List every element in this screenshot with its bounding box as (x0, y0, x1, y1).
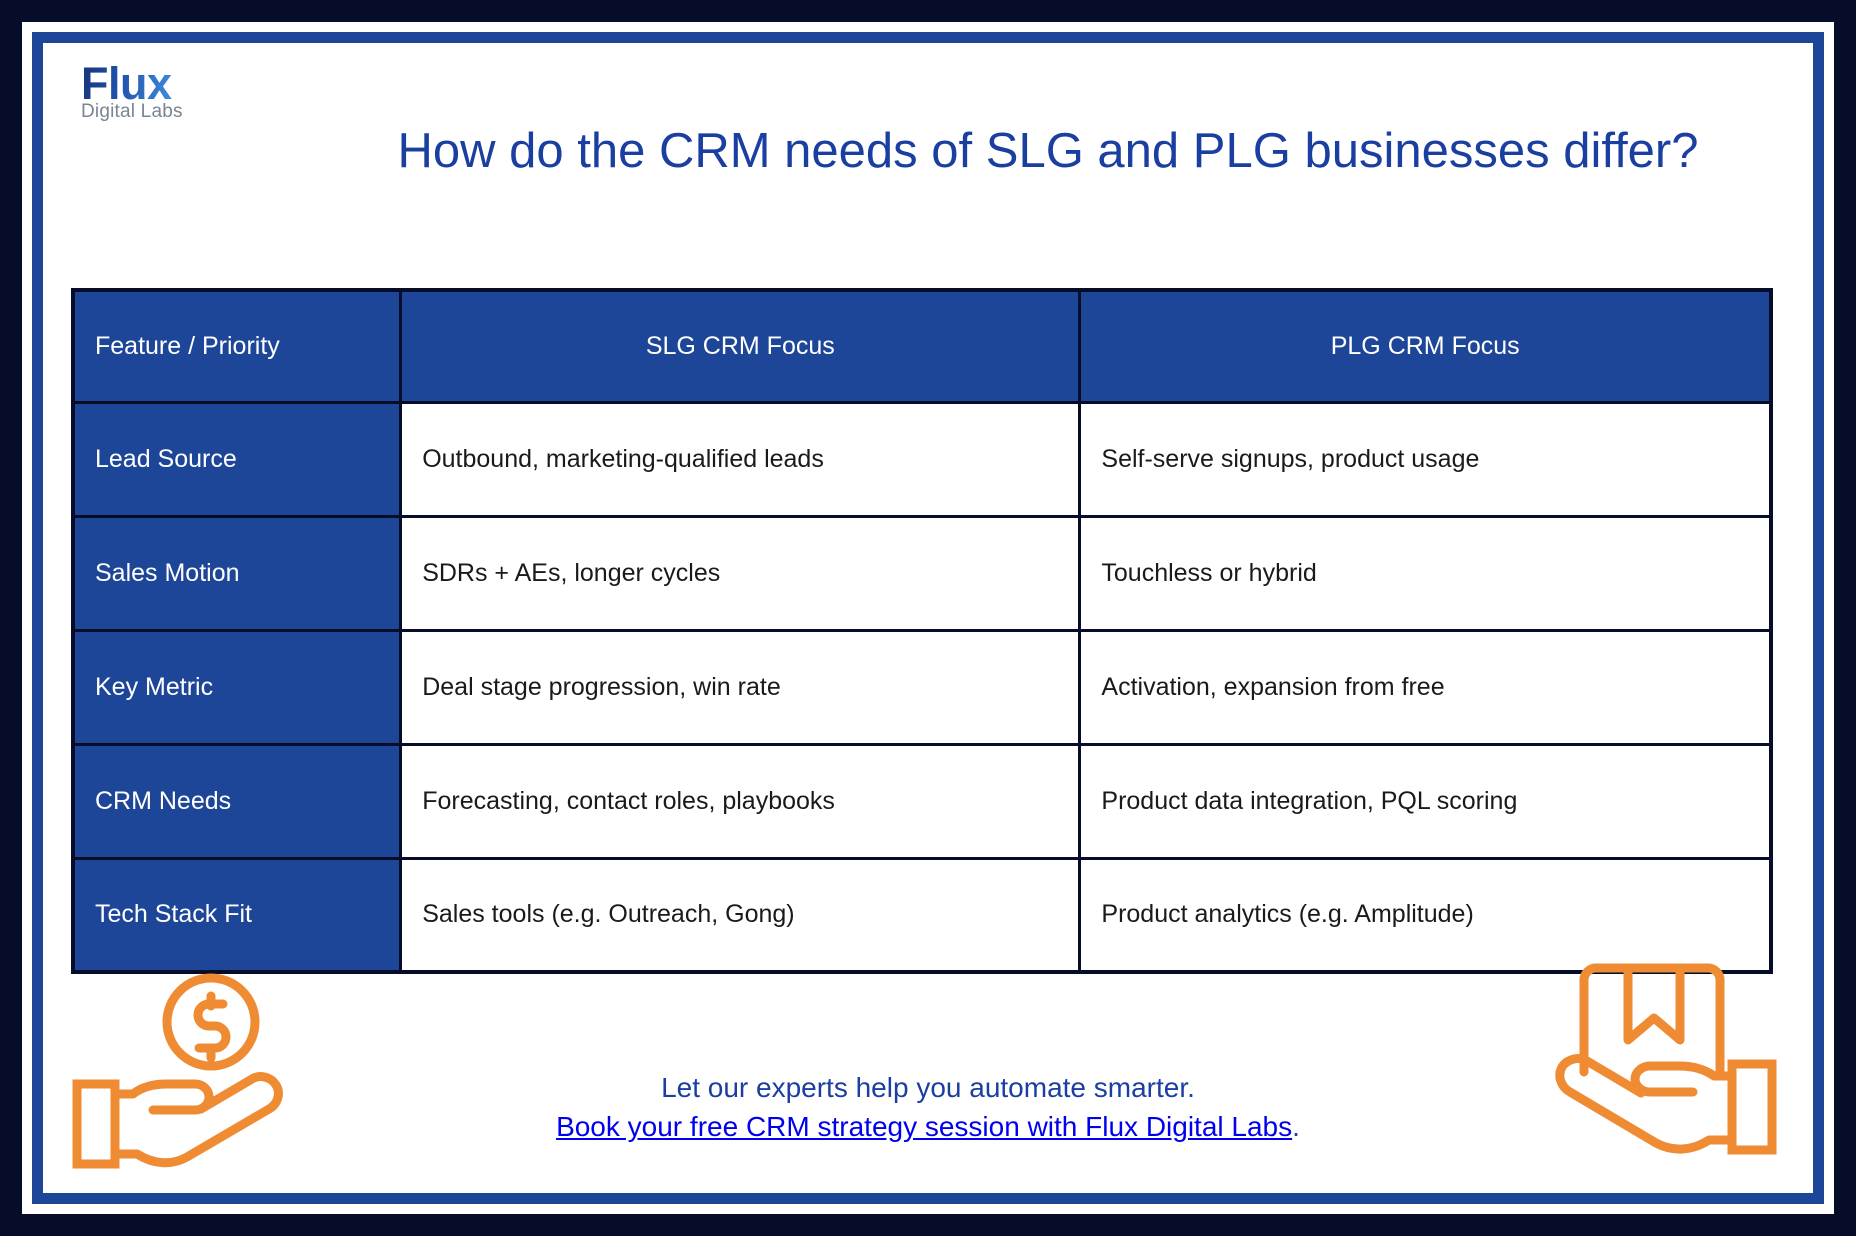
cell-plg-tech-stack-fit: Product analytics (e.g. Amplitude) (1080, 858, 1771, 972)
page-title: How do the CRM needs of SLG and PLG busi… (343, 121, 1753, 183)
row-header-tech-stack-fit: Tech Stack Fit (73, 858, 401, 972)
brand-logo: Flux Digital Labs (81, 61, 291, 121)
cta-line-1: Let our experts help you automate smarte… (378, 1068, 1478, 1108)
row-header-sales-motion: Sales Motion (73, 516, 401, 630)
table-header: Feature / Priority SLG CRM Focus PLG CRM… (73, 290, 1771, 402)
cell-slg-key-metric: Deal stage progression, win rate (401, 630, 1080, 744)
cell-plg-key-metric: Activation, expansion from free (1080, 630, 1771, 744)
hand-holding-package-box-icon (1536, 960, 1801, 1175)
column-header-plg: PLG CRM Focus (1080, 290, 1771, 402)
infographic-poster: Flux Digital Labs How do the CRM needs o… (0, 0, 1856, 1236)
cell-plg-sales-motion: Touchless or hybrid (1080, 516, 1771, 630)
cell-slg-tech-stack-fit: Sales tools (e.g. Outreach, Gong) (401, 858, 1080, 972)
cta-block: Let our experts help you automate smarte… (378, 1068, 1478, 1148)
hand-holding-dollar-coin-icon (63, 970, 323, 1175)
frame-blue-rule: Flux Digital Labs How do the CRM needs o… (32, 32, 1824, 1204)
frame-gutter: Flux Digital Labs How do the CRM needs o… (22, 22, 1834, 1214)
cell-slg-crm-needs: Forecasting, contact roles, playbooks (401, 744, 1080, 858)
cell-slg-sales-motion: SDRs + AEs, longer cycles (401, 516, 1080, 630)
comparison-table-container: Feature / Priority SLG CRM Focus PLG CRM… (71, 288, 1773, 974)
table-row: Sales Motion SDRs + AEs, longer cycles T… (73, 516, 1771, 630)
table-body: Lead Source Outbound, marketing-qualifie… (73, 402, 1771, 972)
cta-line-2-period: . (1292, 1111, 1300, 1142)
column-header-slg: SLG CRM Focus (401, 290, 1080, 402)
column-header-feature: Feature / Priority (73, 290, 401, 402)
brand-logo-tagline: Digital Labs (81, 102, 291, 121)
cta-line-2: Book your free CRM strategy session with… (378, 1107, 1478, 1147)
row-header-key-metric: Key Metric (73, 630, 401, 744)
table-row: CRM Needs Forecasting, contact roles, pl… (73, 744, 1771, 858)
table-row: Lead Source Outbound, marketing-qualifie… (73, 402, 1771, 516)
cta-booking-link[interactable]: Book your free CRM strategy session with… (556, 1111, 1292, 1142)
table-row: Tech Stack Fit Sales tools (e.g. Outreac… (73, 858, 1771, 972)
comparison-table: Feature / Priority SLG CRM Focus PLG CRM… (71, 288, 1773, 974)
row-header-crm-needs: CRM Needs (73, 744, 401, 858)
cell-plg-crm-needs: Product data integration, PQL scoring (1080, 744, 1771, 858)
cell-plg-lead-source: Self-serve signups, product usage (1080, 402, 1771, 516)
table-header-row: Feature / Priority SLG CRM Focus PLG CRM… (73, 290, 1771, 402)
cell-slg-lead-source: Outbound, marketing-qualified leads (401, 402, 1080, 516)
table-row: Key Metric Deal stage progression, win r… (73, 630, 1771, 744)
row-header-lead-source: Lead Source (73, 402, 401, 516)
brand-logo-wordmark: Flux (81, 61, 172, 106)
poster-canvas: Flux Digital Labs How do the CRM needs o… (43, 43, 1813, 1193)
